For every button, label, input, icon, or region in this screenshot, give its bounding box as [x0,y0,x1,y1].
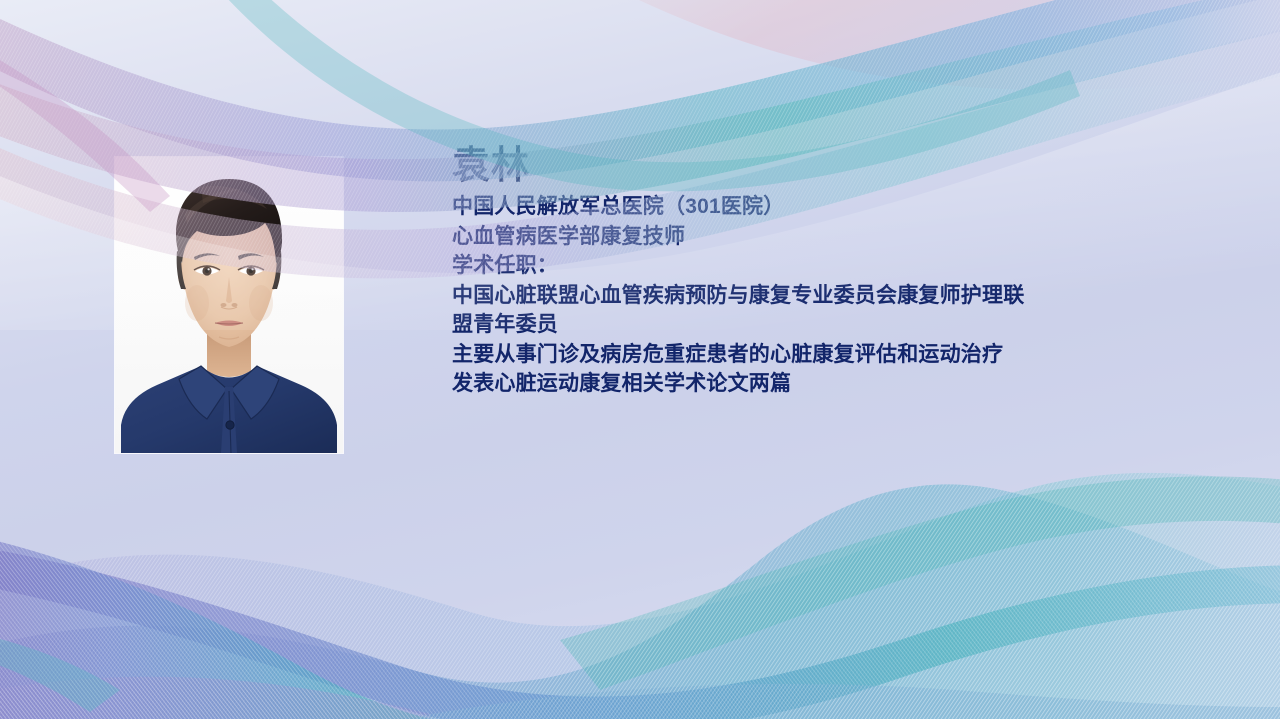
bio-line-work: 主要从事门诊及病房危重症患者的心脏康复评估和运动治疗 [452,340,1152,370]
portrait-illustration [115,157,343,453]
speaker-portrait-photo [115,157,343,453]
bio-line-academic-label: 学术任职： [452,251,1152,281]
bio-line-academic-2: 盟青年委员 [452,310,1152,340]
bio-line-publications: 发表心脏运动康复相关学术论文两篇 [452,369,1152,399]
speaker-intro-slide: 袁林 中国人民解放军总医院（301医院） 心血管病医学部康复技师 学术任职： 中… [0,0,1280,719]
bio-line-title: 心血管病医学部康复技师 [452,222,1152,252]
speaker-name: 袁林 [452,142,1152,190]
bio-line-hospital: 中国人民解放军总医院（301医院） [452,192,1152,222]
bio-line-academic-1: 中国心脏联盟心血管疾病预防与康复专业委员会康复师护理联 [452,281,1152,311]
speaker-bio: 袁林 中国人民解放军总医院（301医院） 心血管病医学部康复技师 学术任职： 中… [452,142,1152,399]
